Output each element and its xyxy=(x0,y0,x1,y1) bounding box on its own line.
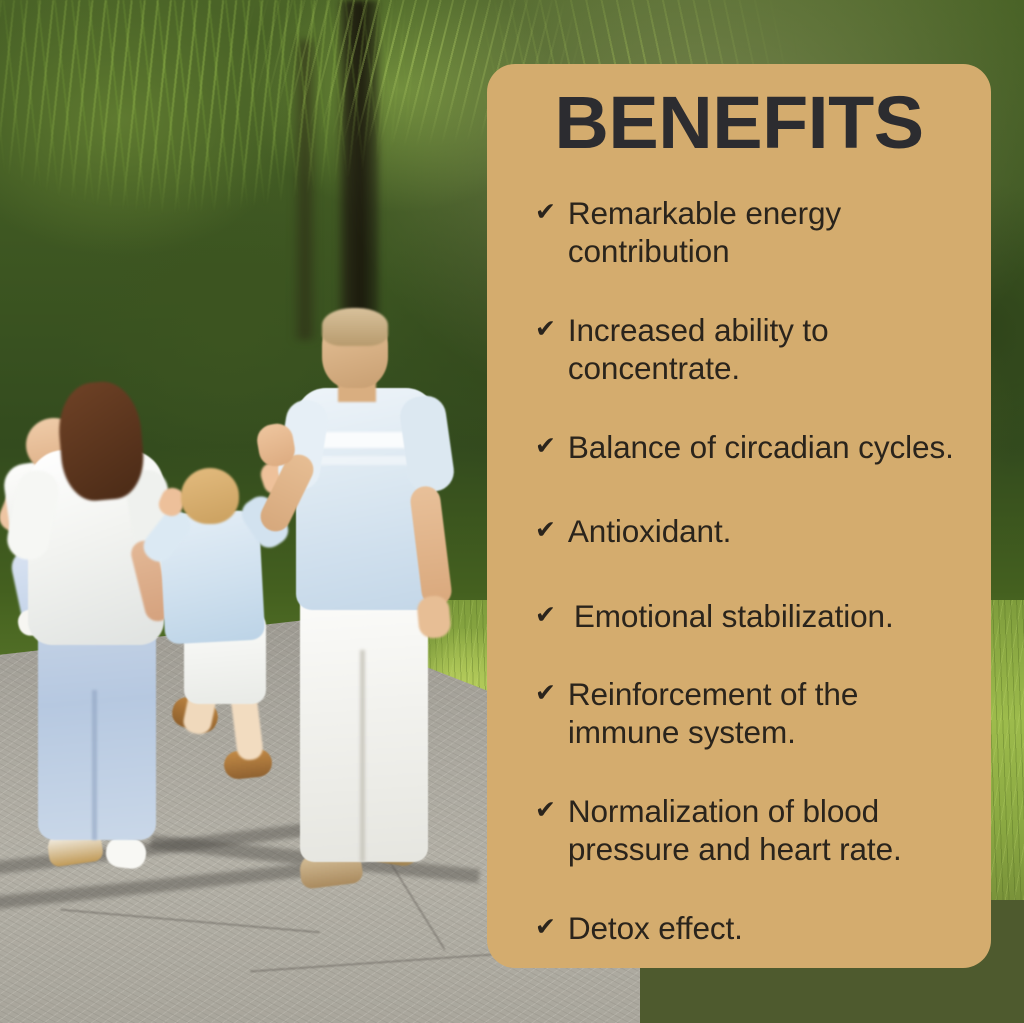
mother-leg-seam xyxy=(92,690,97,840)
benefit-text: Remarkable energy contribution xyxy=(568,194,961,271)
father-leg-seam xyxy=(360,650,365,862)
benefit-item: ✔ Remarkable energy contribution xyxy=(535,194,961,271)
child-head xyxy=(181,468,239,524)
check-icon: ✔ xyxy=(535,597,556,635)
father-hand-right xyxy=(416,595,452,640)
benefit-text: Balance of circadian cycles. xyxy=(568,428,961,466)
benefit-item: ✔ Emotional stabilization. xyxy=(535,597,961,635)
benefit-text: Emotional stabilization. xyxy=(574,597,961,635)
benefit-text: Increased ability to concentrate. xyxy=(568,311,961,388)
father-hair xyxy=(322,308,388,346)
benefit-item: ✔ Detox effect. xyxy=(535,909,961,947)
benefit-text: Reinforcement of the immune system. xyxy=(568,675,961,752)
benefit-item: ✔ Antioxidant. xyxy=(535,512,961,550)
benefit-text: Normalization of blood pressure and hear… xyxy=(568,792,961,869)
poster-image: BENEFITS ✔ Remarkable energy contributio… xyxy=(0,0,1024,1023)
benefit-item: ✔ Reinforcement of the immune system. xyxy=(535,675,961,752)
check-icon: ✔ xyxy=(535,675,556,713)
benefits-list: ✔ Remarkable energy contribution ✔ Incre… xyxy=(517,194,961,947)
benefit-item: ✔ Increased ability to concentrate. xyxy=(535,311,961,388)
check-icon: ✔ xyxy=(535,792,556,830)
benefit-text: Detox effect. xyxy=(568,909,961,947)
check-icon: ✔ xyxy=(535,512,556,550)
benefit-text: Antioxidant. xyxy=(568,512,961,550)
check-icon: ✔ xyxy=(535,428,556,466)
benefit-item: ✔ Normalization of blood pressure and he… xyxy=(535,792,961,869)
page-title: BENEFITS xyxy=(513,86,966,160)
check-icon: ✔ xyxy=(535,311,556,349)
check-icon: ✔ xyxy=(535,194,556,232)
benefit-item: ✔ Balance of circadian cycles. xyxy=(535,428,961,466)
check-icon: ✔ xyxy=(535,909,556,947)
benefits-card: BENEFITS ✔ Remarkable energy contributio… xyxy=(487,64,991,968)
